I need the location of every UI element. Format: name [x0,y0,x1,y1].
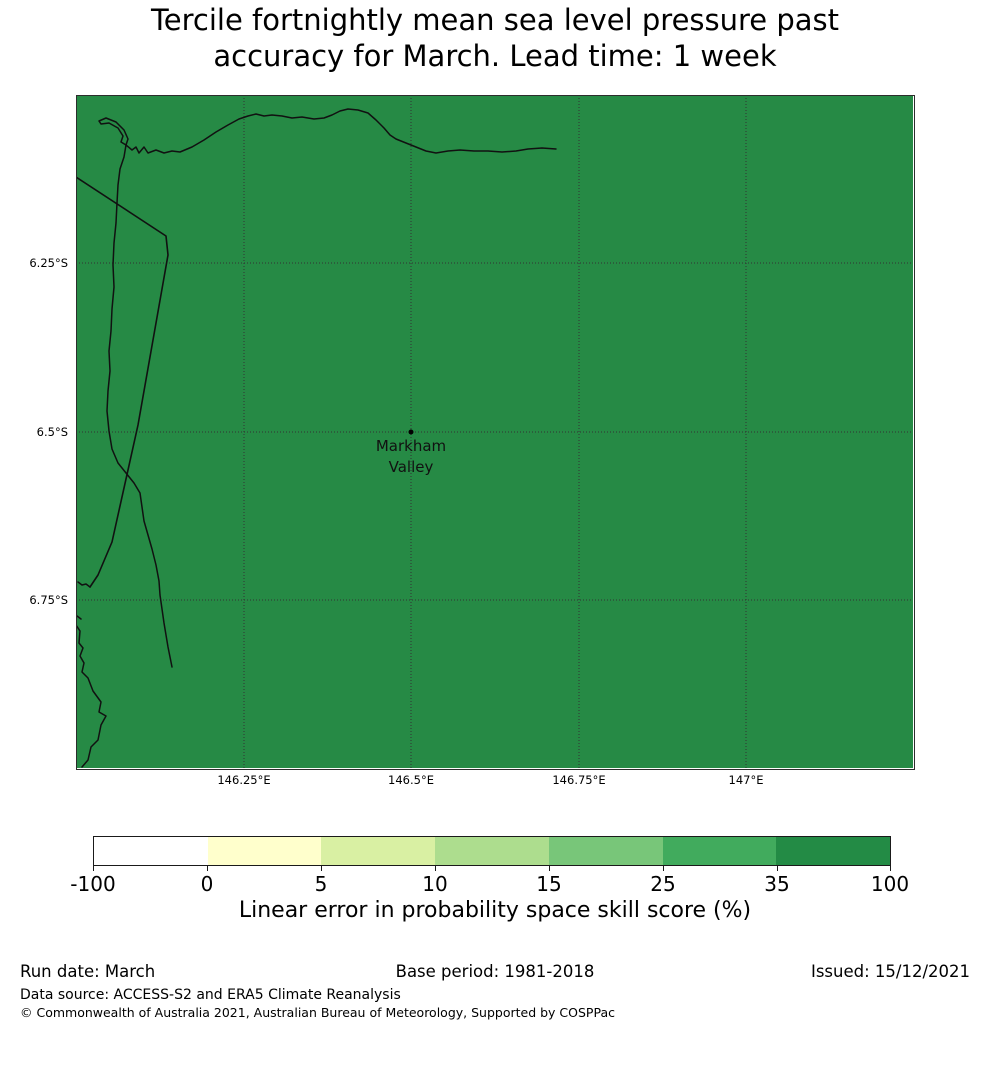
colorbar-tick [435,866,436,871]
x-tick-label: 147°E [729,773,764,787]
colorbar-tick [777,866,778,871]
colorbar-tick-label: 5 [315,872,328,896]
colorbar-tick-label: 25 [650,872,675,896]
colorbar-tick [93,866,94,871]
colorbar-tick [890,866,891,871]
y-tick-label: 6.25°S [29,256,68,270]
colorbar-segment [776,837,890,865]
colorbar[interactable]: -100 0 5 10 15 25 35 100 [93,836,891,866]
colorbar-tick [207,866,208,871]
colorbar-segment [321,837,435,865]
page-title: Tercile fortnightly mean sea level press… [0,0,990,74]
colorbar-tick [549,866,550,871]
map-plot-area[interactable] [76,95,913,768]
colorbar-segment [549,837,663,865]
colorbar-tick-label: -100 [70,872,115,896]
province-boundary-line [76,177,168,587]
footer-metadata-row: Run date: March Base period: 1981-2018 I… [0,962,990,984]
x-tick-label: 146.5°E [388,773,434,787]
colorbar-title: Linear error in probability space skill … [0,898,990,923]
y-tick-label: 6.75°S [29,593,68,607]
markham-valley-marker[interactable] [409,430,414,435]
colorbar-segment [663,837,777,865]
colorbar-tick [321,866,322,871]
x-tick-label: 146.75°E [552,773,605,787]
colorbar-tick-label: 10 [422,872,447,896]
colorbar-tick-label: 0 [201,872,214,896]
data-source-text: Data source: ACCESS-S2 and ERA5 Climate … [20,987,401,1003]
copyright-text: © Commonwealth of Australia 2021, Austra… [20,1005,615,1020]
colorbar-segment [208,837,322,865]
map-vector-layer [76,95,913,768]
map-gridlines [76,95,913,768]
colorbar-gradient [93,836,891,866]
colorbar-tick [663,866,664,871]
coastline-east [99,109,556,667]
colorbar-tick-label: 35 [764,872,789,896]
colorbar-segment [435,837,549,865]
colorbar-tick-label: 100 [871,872,909,896]
x-tick-label: 146.25°E [217,773,270,787]
y-tick-label: 6.5°S [37,425,68,439]
colorbar-tick-label: 15 [536,872,561,896]
colorbar-segment [94,837,208,865]
issued-date-text: Issued: 15/12/2021 [811,962,970,981]
coastline-west [76,582,106,767]
markham-valley-label: Markham Valley [376,436,446,478]
